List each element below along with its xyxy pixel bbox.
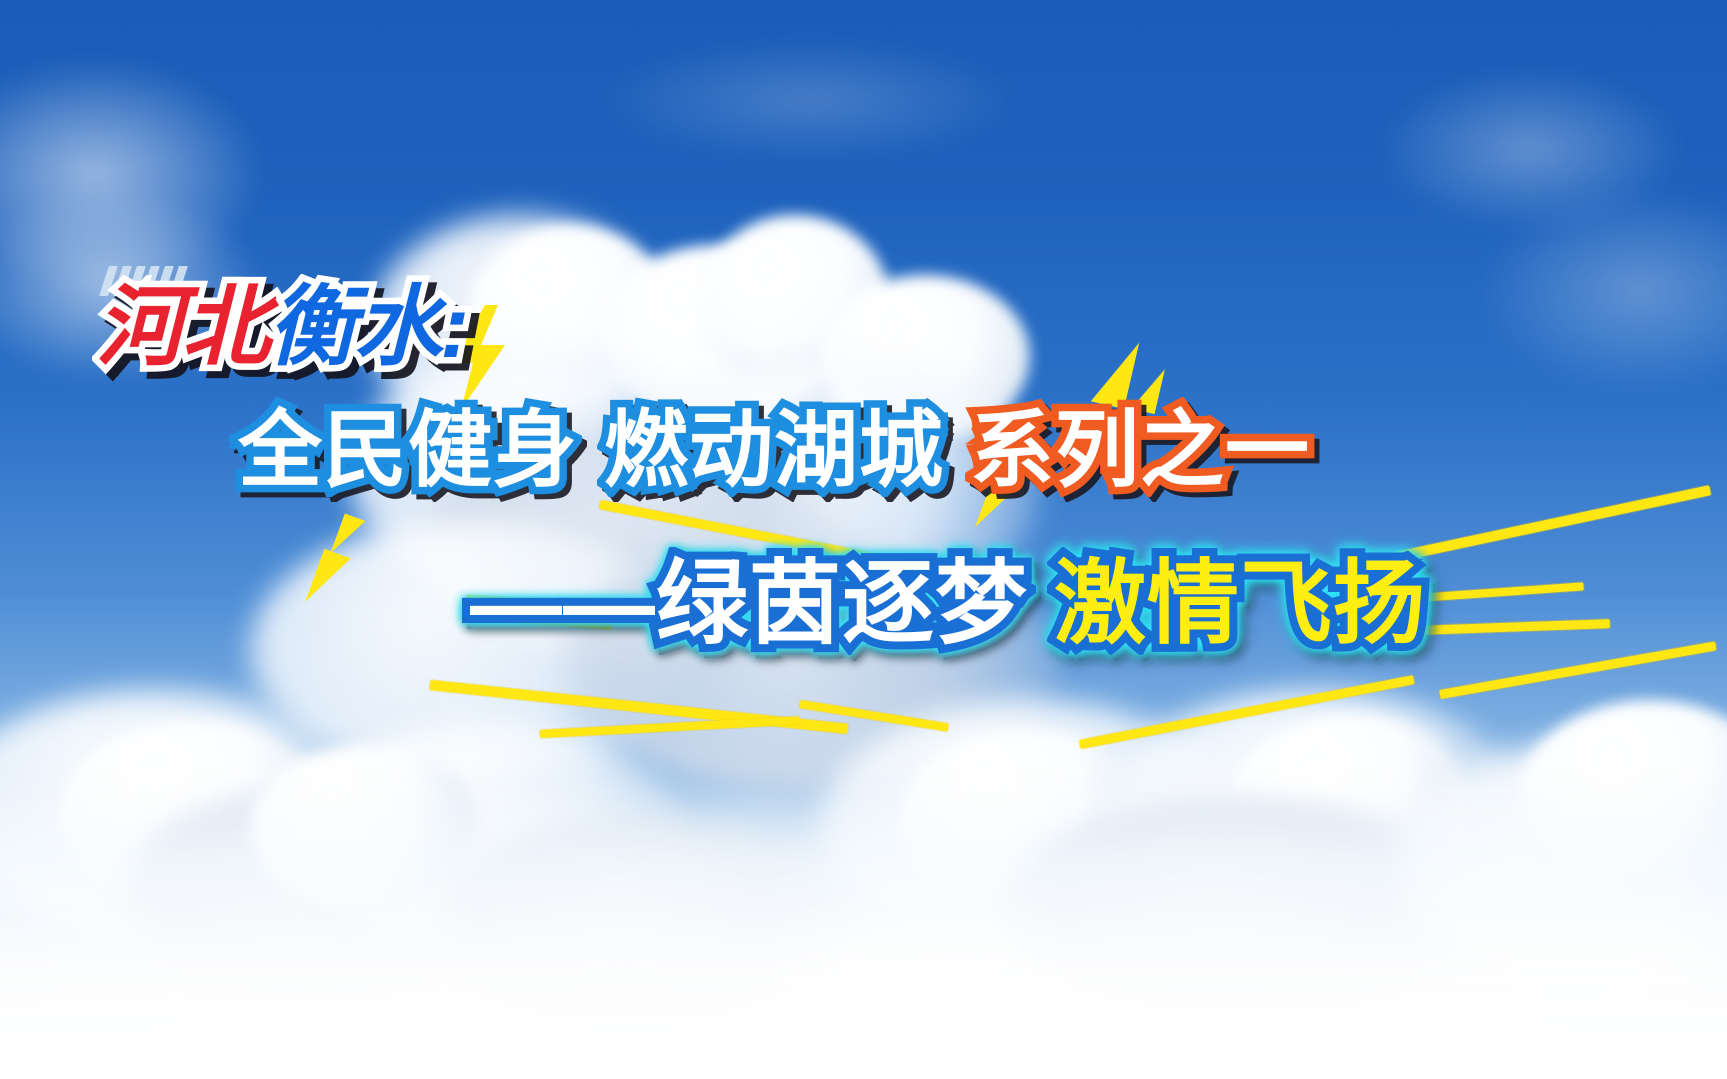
title-block: 河北衡水: 全民健身燃动湖城系列之一 ——绿茵逐梦激情飞扬 bbox=[0, 0, 1727, 1079]
title-line-2: 全民健身燃动湖城系列之一 bbox=[238, 408, 1310, 492]
title-line2-segment-c: 系列之一 bbox=[970, 403, 1310, 497]
title-line2-segment-b: 燃动湖城 bbox=[604, 403, 944, 497]
title-line3-segment-b: 激情飞扬 bbox=[1054, 553, 1426, 655]
title-card-canvas: 河北衡水: 全民健身燃动湖城系列之一 ——绿茵逐梦激情飞扬 bbox=[0, 0, 1727, 1079]
title-line3-segment-a: ——绿茵逐梦 bbox=[470, 553, 1028, 655]
title-line2-segment-a: 全民健身 bbox=[238, 403, 578, 497]
title-line1-red: 河北 bbox=[96, 277, 268, 376]
title-line-3: ——绿茵逐梦激情飞扬 bbox=[470, 558, 1426, 650]
title-line-1: 河北衡水: bbox=[96, 283, 467, 371]
title-line1-blue: 衡水: bbox=[268, 277, 467, 376]
